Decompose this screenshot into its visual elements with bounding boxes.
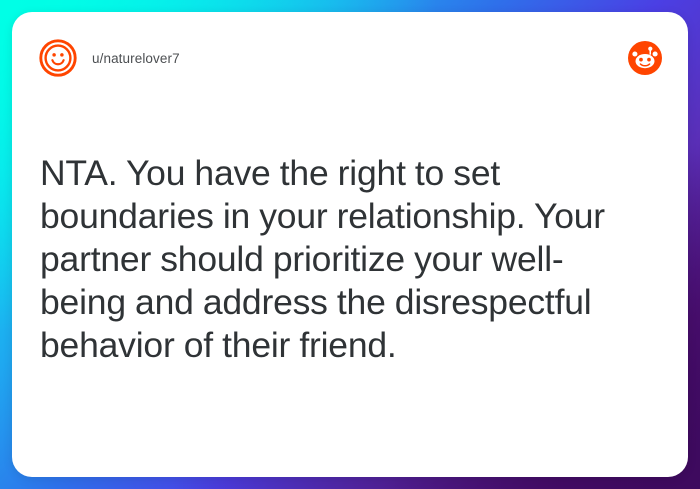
post-text: NTA. You have the right to set boundarie… bbox=[40, 152, 648, 367]
card-body: NTA. You have the right to set boundarie… bbox=[40, 152, 648, 367]
gradient-background: u/naturelover7 NTA. bbox=[0, 0, 700, 489]
card-header: u/naturelover7 bbox=[38, 34, 662, 82]
reddit-snoo-logo[interactable] bbox=[628, 41, 662, 75]
smiley-face-icon[interactable] bbox=[38, 38, 78, 78]
username-label: u/naturelover7 bbox=[92, 51, 180, 66]
post-card: u/naturelover7 NTA. bbox=[12, 12, 688, 477]
